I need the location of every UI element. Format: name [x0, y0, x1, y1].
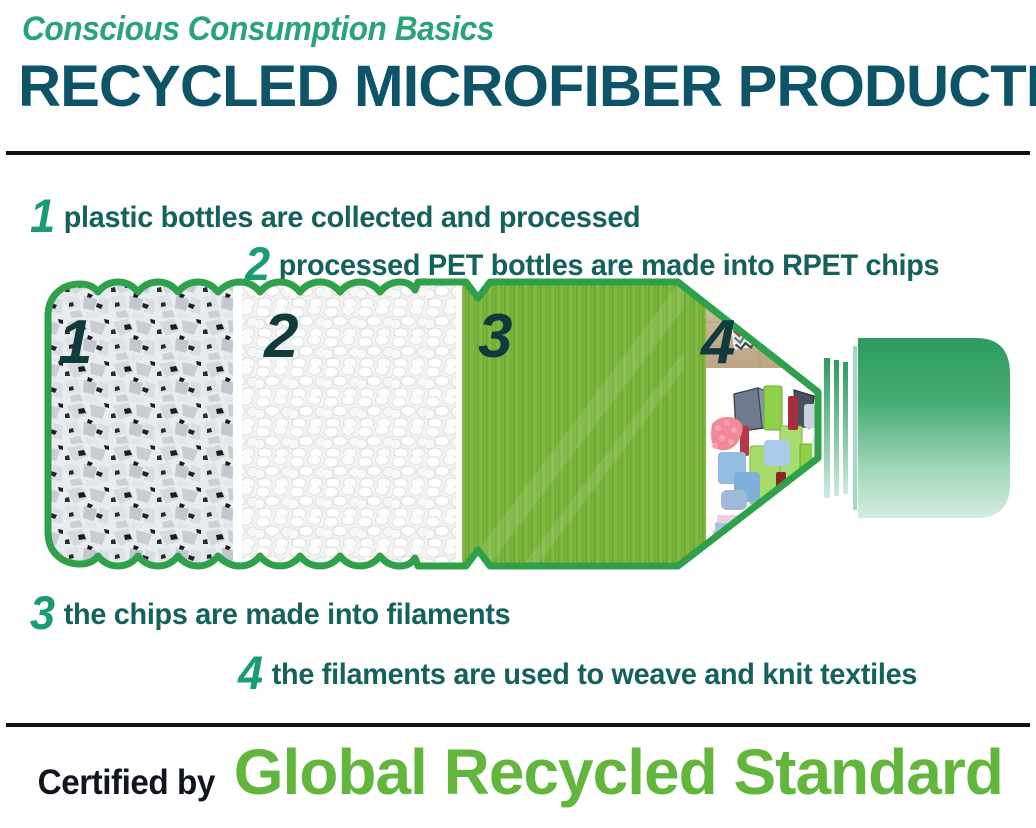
bottle-cap — [858, 338, 1010, 518]
page-title: RECYCLED MICROFIBER PRODUCTION — [18, 58, 1036, 116]
step-caption-4: 4the filaments are used to weave and kni… — [238, 640, 917, 695]
step-caption-3: 3the chips are made into filaments — [30, 580, 510, 635]
bottle-svg — [18, 276, 1018, 572]
step-caption-1: 1plastic bottles are collected and proce… — [30, 183, 640, 238]
step-number-3: 3 — [30, 586, 55, 639]
step-number-4: 4 — [238, 646, 263, 699]
step-text-1: plastic bottles are collected and proces… — [64, 201, 641, 234]
step-text-4: the filaments are used to weave and knit… — [272, 658, 917, 691]
panel-label-1: 1 — [58, 312, 90, 374]
certified-by-label: Certified by — [38, 763, 215, 803]
panel-label-2: 2 — [264, 306, 296, 368]
step-number-1: 1 — [30, 189, 55, 242]
bottle-diagram — [18, 276, 1018, 572]
footer-certification: Certified byGlobal Recycled Standard — [0, 740, 1036, 804]
divider-bottom — [6, 723, 1030, 727]
panel-label-3: 3 — [478, 306, 510, 368]
step-text-3: the chips are made into filaments — [64, 598, 511, 631]
standard-name: Global Recycled Standard — [234, 740, 1003, 804]
eyebrow-subtitle: Conscious Consumption Basics — [22, 10, 494, 49]
infographic-page: Conscious Consumption Basics RECYCLED MI… — [0, 0, 1036, 828]
divider-top — [6, 151, 1030, 155]
panel-label-4: 4 — [701, 312, 733, 374]
